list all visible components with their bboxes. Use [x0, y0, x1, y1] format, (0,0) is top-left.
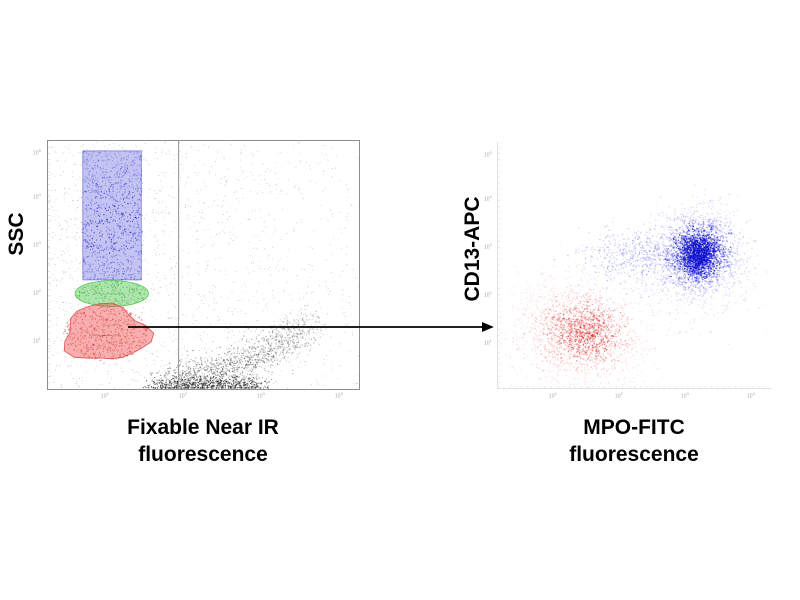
right-y-ticks-1: 102: [484, 290, 492, 299]
right-x-title-line-1: MPO-FITC: [528, 414, 740, 441]
left-x-title-line-1: Fixable Near IR: [64, 414, 342, 441]
gating-arrow: [120, 316, 505, 340]
left-x-title-line-2: fluorescence: [64, 441, 342, 468]
left-y-ticks-0: 101: [33, 336, 41, 345]
right-y-ticks-3: 104: [484, 194, 492, 203]
left-x-ticks-2: 103: [257, 391, 265, 400]
right-x-ticks-0: 101: [549, 391, 557, 400]
left-plot-y-axis-title: SSC: [5, 199, 29, 269]
right-plot-frame: [497, 142, 771, 389]
right-plot-x-axis-title: MPO-FITC fluorescence: [528, 414, 740, 469]
right-y-ticks-2: 103: [484, 242, 492, 251]
left-plot-canvas: [48, 141, 359, 389]
right-plot-canvas: [498, 142, 771, 388]
right-plot-y-axis-title: CD13-APC: [461, 181, 485, 317]
right-y-ticks-4: 105: [484, 150, 492, 159]
left-x-ticks-3: 104: [335, 391, 343, 400]
right-x-ticks-1: 102: [615, 391, 623, 400]
left-y-ticks-4: 105: [33, 148, 41, 157]
right-x-ticks-3: 104: [747, 391, 755, 400]
flow-cytometry-figure: SSC 101102103104 101102103104105 Fixable…: [0, 0, 800, 600]
left-plot-frame: [47, 140, 360, 390]
left-x-ticks-1: 102: [179, 391, 187, 400]
right-x-title-line-2: fluorescence: [528, 441, 740, 468]
left-x-ticks-0: 101: [101, 391, 109, 400]
left-plot-x-axis-title: Fixable Near IR fluorescence: [64, 414, 342, 469]
left-y-ticks-3: 104: [33, 192, 41, 201]
right-y-ticks-0: 101: [484, 338, 492, 347]
left-y-ticks-2: 103: [33, 240, 41, 249]
left-y-ticks-1: 102: [33, 288, 41, 297]
right-x-ticks-2: 103: [681, 391, 689, 400]
